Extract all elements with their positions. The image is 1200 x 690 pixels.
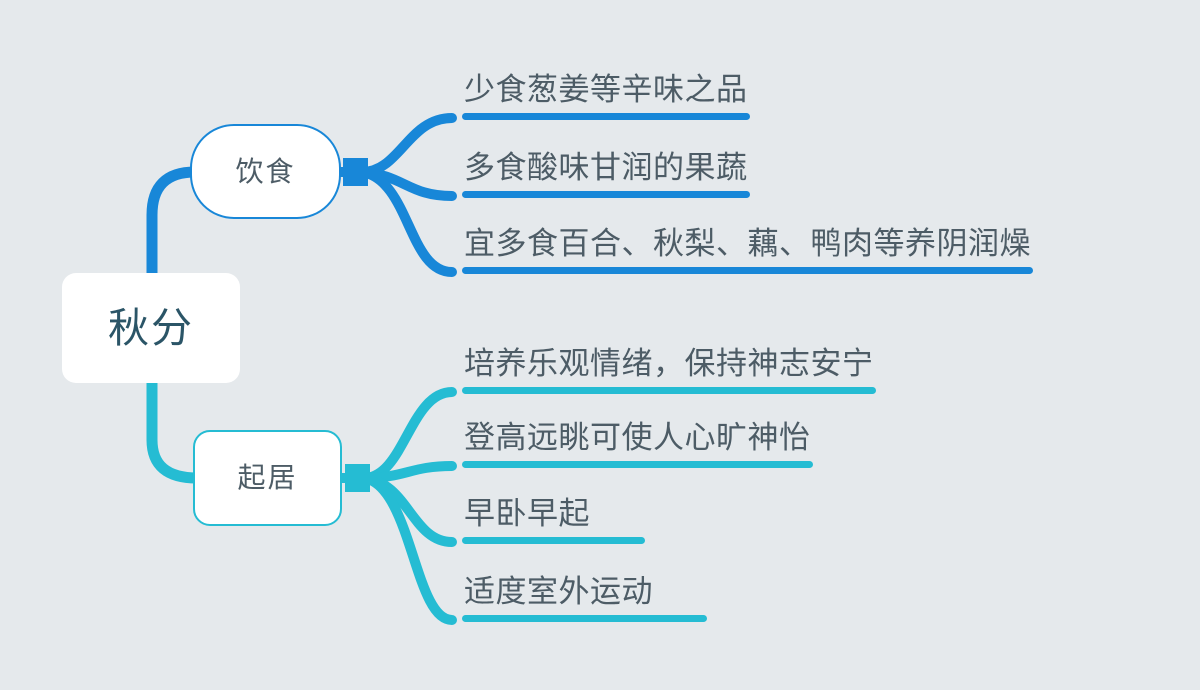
node-root-label: 秋分 xyxy=(108,308,194,349)
leaf-routine-2[interactable]: 登高远眺可使人心旷神怡 xyxy=(462,418,813,468)
leaf-diet-2-underline xyxy=(462,191,750,198)
node-branch-routine[interactable]: 起居 xyxy=(193,430,342,526)
leaf-diet-1[interactable]: 少食葱姜等辛味之品 xyxy=(462,70,750,120)
connector-root-to-diet xyxy=(152,172,195,276)
node-branch-diet-label: 饮食 xyxy=(235,158,295,186)
leaf-diet-3[interactable]: 宜多食百合、秋梨、藕、鸭肉等养阴润燥 xyxy=(462,224,1033,274)
leaf-diet-3-label: 宜多食百合、秋梨、藕、鸭肉等养阴润燥 xyxy=(462,224,1033,264)
leaf-routine-1-underline xyxy=(462,387,876,394)
connector-diet-to-leaf-3 xyxy=(340,172,452,272)
leaf-routine-1-label: 培养乐观情绪，保持神志安宁 xyxy=(462,344,876,384)
leaf-routine-3[interactable]: 早卧早起 xyxy=(462,494,645,544)
leaf-routine-1[interactable]: 培养乐观情绪，保持神志安宁 xyxy=(462,344,876,394)
connector-root-to-routine xyxy=(152,381,197,478)
leaf-diet-1-label: 少食葱姜等辛味之品 xyxy=(462,70,750,110)
leaf-routine-3-underline xyxy=(462,537,645,544)
leaf-routine-2-label: 登高远眺可使人心旷神怡 xyxy=(462,418,813,458)
leaf-routine-4-underline xyxy=(462,615,707,622)
mindmap-canvas: 秋分 饮食 起居 少食葱姜等辛味之品 多食酸味甘润的果蔬 宜多食百合、秋梨、藕、… xyxy=(0,0,1200,690)
leaf-diet-2[interactable]: 多食酸味甘润的果蔬 xyxy=(462,148,750,198)
leaf-routine-2-underline xyxy=(462,461,813,468)
leaf-diet-3-underline xyxy=(462,267,1033,274)
node-branch-diet[interactable]: 饮食 xyxy=(190,124,341,219)
leaf-diet-1-underline xyxy=(462,113,750,120)
leaf-routine-4[interactable]: 适度室外运动 xyxy=(462,572,707,622)
leaf-diet-2-label: 多食酸味甘润的果蔬 xyxy=(462,148,750,188)
node-root[interactable]: 秋分 xyxy=(62,273,240,383)
node-branch-routine-label: 起居 xyxy=(237,464,297,492)
leaf-routine-4-label: 适度室外运动 xyxy=(462,572,707,612)
leaf-routine-3-label: 早卧早起 xyxy=(462,494,645,534)
